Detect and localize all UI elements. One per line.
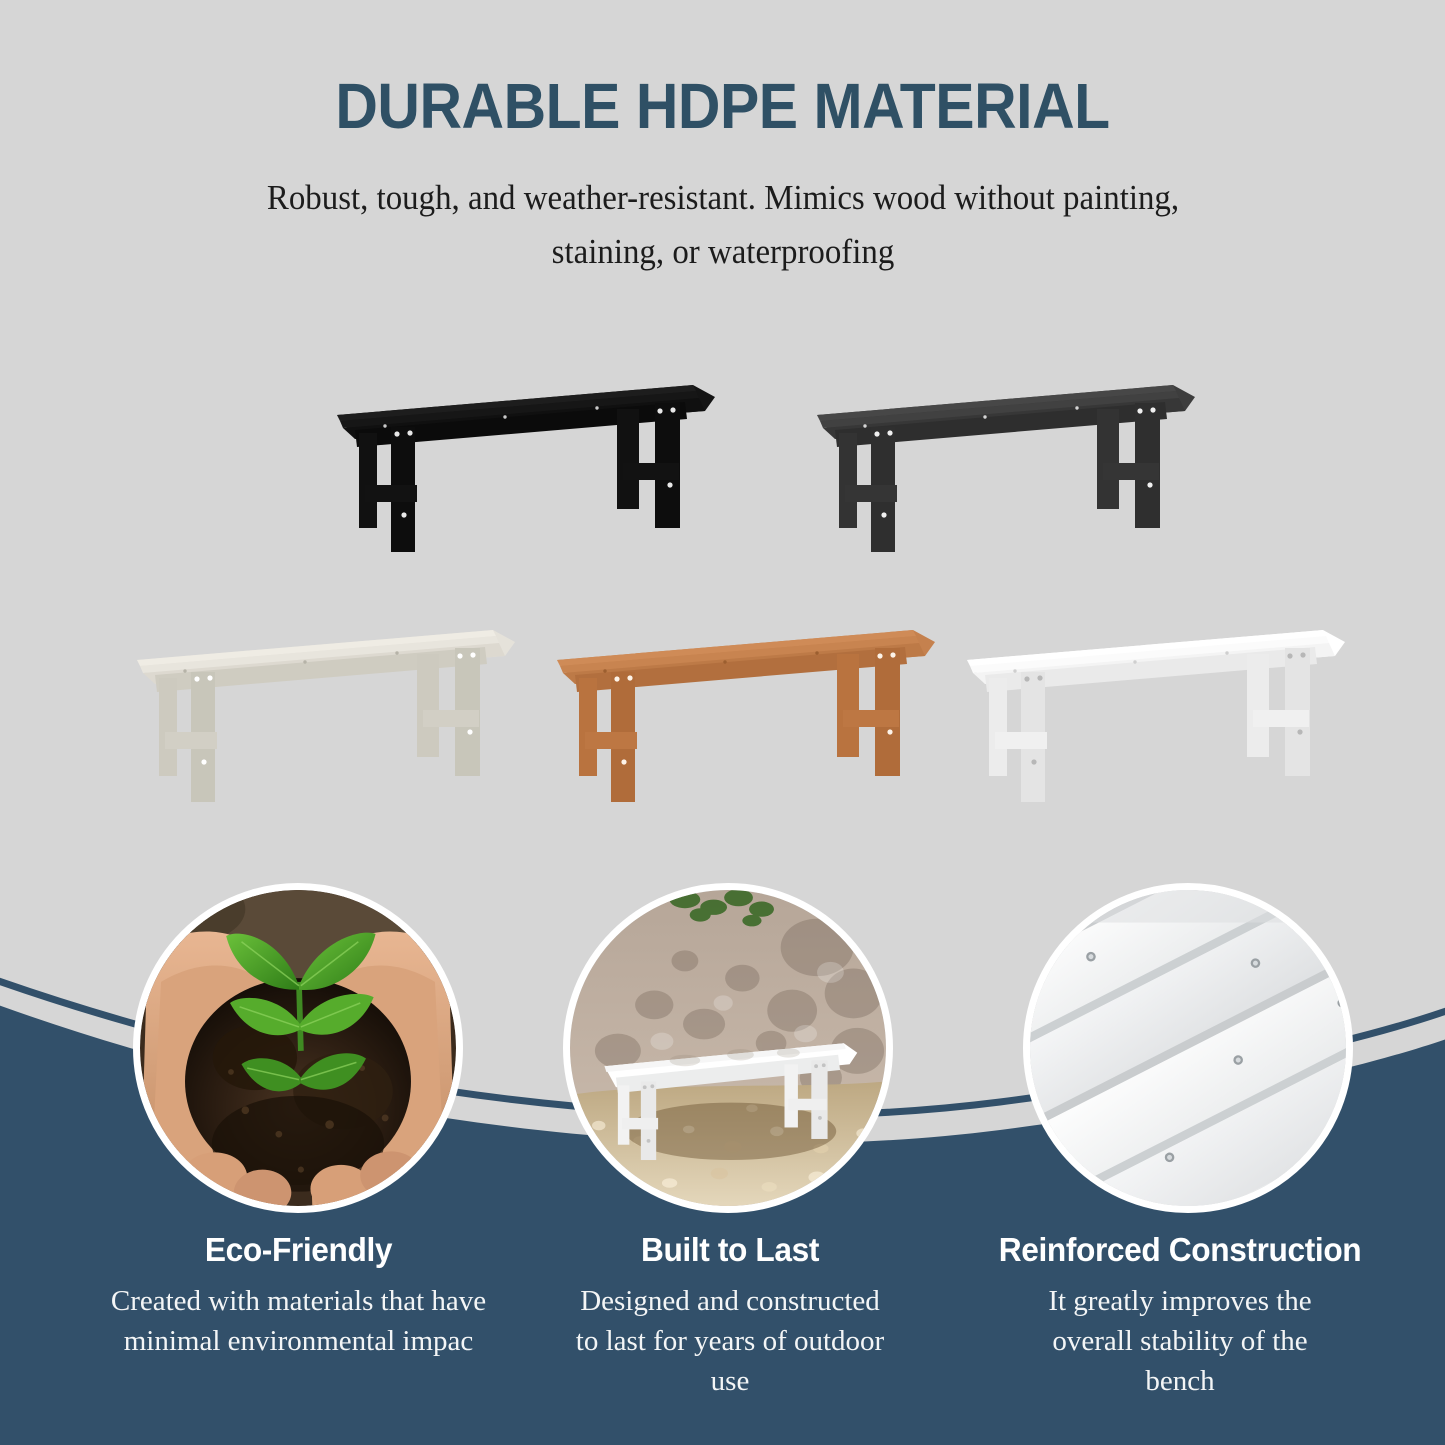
feature-title: Reinforced Construction	[974, 1232, 1387, 1268]
feature-image-eco-friendly	[133, 883, 463, 1213]
bench-illustration	[955, 620, 1345, 805]
product-bench-black	[325, 375, 715, 555]
page-title: DURABLE HDPE MATERIAL	[58, 74, 1387, 138]
product-bench-dark-gray	[805, 375, 1195, 555]
feature-title: Built to Last	[576, 1232, 883, 1268]
product-bench-teak	[545, 620, 935, 805]
product-bench-sand	[125, 620, 515, 805]
bench-illustration	[125, 620, 515, 805]
feature-image-reinforced-construction	[1023, 883, 1353, 1213]
feature-title: Eco-Friendly	[104, 1232, 493, 1268]
page-subtitle: Robust, tough, and weather-resistant. Mi…	[253, 171, 1193, 280]
feature-block-built-to-last: Built to Last Designed and constructed t…	[570, 1232, 890, 1401]
feature-body: It greatly improves the overall stabilit…	[1025, 1281, 1335, 1401]
header: DURABLE HDPE MATERIAL Robust, tough, and…	[0, 74, 1445, 280]
infographic-canvas: DURABLE HDPE MATERIAL Robust, tough, and…	[0, 0, 1445, 1445]
feature-image-built-to-last	[563, 883, 893, 1213]
bench-illustration	[545, 620, 935, 805]
bench-illustration	[325, 375, 715, 555]
feature-body: Created with materials that have minimal…	[96, 1281, 501, 1361]
feature-body: Designed and constructed to last for yea…	[570, 1281, 890, 1401]
feature-block-reinforced-construction: Reinforced Construction It greatly impro…	[965, 1232, 1395, 1401]
product-bench-white	[955, 620, 1345, 805]
bench-illustration	[805, 375, 1195, 555]
feature-block-eco-friendly: Eco-Friendly Created with materials that…	[96, 1232, 501, 1361]
